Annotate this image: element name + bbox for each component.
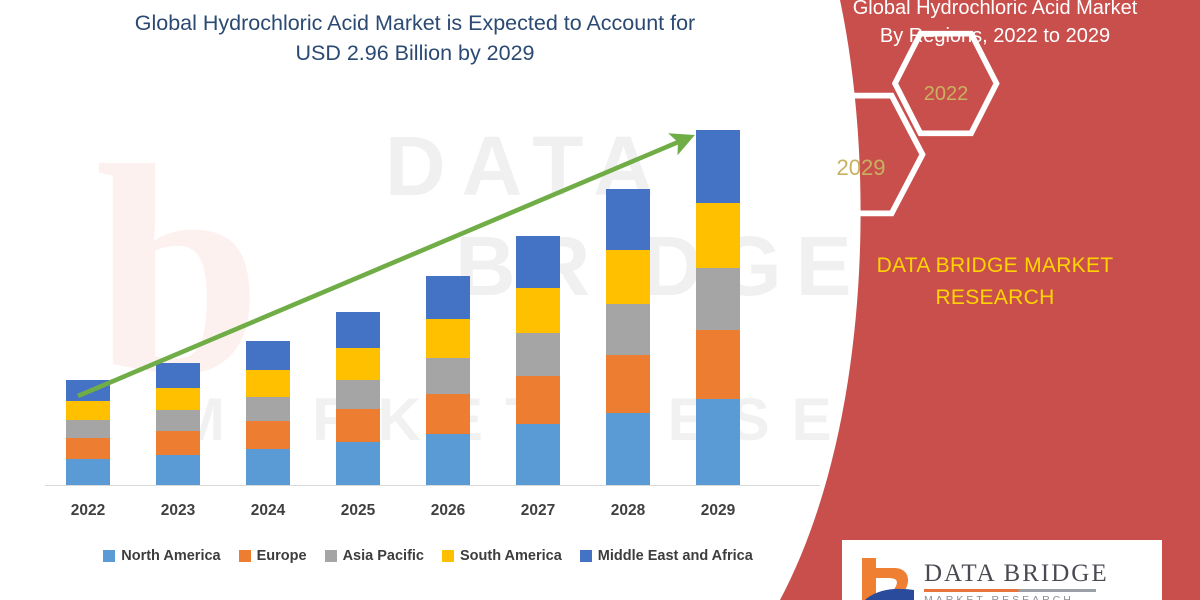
chart-legend: North AmericaEuropeAsia PacificSouth Ame…	[48, 548, 808, 564]
bar-segment-north-america[interactable]	[426, 434, 470, 485]
bar-segment-south-america[interactable]	[66, 401, 110, 420]
legend-swatch-icon	[239, 550, 251, 562]
bar-segment-north-america[interactable]	[66, 459, 110, 485]
logo-text-block: DATA BRIDGE MARKET RESEARCH	[924, 561, 1109, 600]
bar-segment-south-america[interactable]	[606, 250, 650, 304]
bar-segment-middle-east-and-africa[interactable]	[246, 341, 290, 370]
plot-area: 20222023202420252026202720282029	[0, 0, 860, 600]
legend-label: South America	[460, 548, 562, 564]
company-logo: DATA BRIDGE MARKET RESEARCH	[842, 540, 1162, 600]
bar-segment-asia-pacific[interactable]	[516, 333, 560, 376]
axis-baseline	[45, 485, 820, 487]
hexagon-2022-label: 2022	[892, 83, 1000, 106]
logo-title: DATA BRIDGE	[924, 561, 1109, 586]
legend-item-north-america[interactable]: North America	[103, 548, 220, 564]
logo-subtitle: MARKET RESEARCH	[924, 595, 1109, 600]
bar-segment-middle-east-and-africa[interactable]	[426, 276, 470, 319]
bar-2023[interactable]	[156, 363, 200, 485]
hexagon-2029-label: 2029	[796, 155, 926, 181]
legend-item-europe[interactable]: Europe	[239, 548, 307, 564]
bar-segment-asia-pacific[interactable]	[336, 380, 380, 409]
legend-item-asia-pacific[interactable]: Asia Pacific	[325, 548, 424, 564]
bar-segment-north-america[interactable]	[246, 449, 290, 485]
bar-2026[interactable]	[426, 276, 470, 485]
bar-segment-asia-pacific[interactable]	[66, 420, 110, 438]
bar-2022[interactable]	[66, 380, 110, 485]
x-axis-tick-2029: 2029	[673, 502, 763, 520]
bar-2027[interactable]	[516, 236, 560, 485]
bar-segment-middle-east-and-africa[interactable]	[156, 363, 200, 388]
bar-segment-middle-east-and-africa[interactable]	[606, 189, 650, 250]
bar-segment-south-america[interactable]	[336, 348, 380, 380]
legend-label: North America	[121, 548, 220, 564]
legend-swatch-icon	[442, 550, 454, 562]
bar-segment-north-america[interactable]	[336, 442, 380, 485]
bar-segment-europe[interactable]	[696, 330, 740, 399]
bar-segment-asia-pacific[interactable]	[606, 304, 650, 355]
x-axis-tick-2024: 2024	[223, 502, 313, 520]
bar-segment-asia-pacific[interactable]	[246, 397, 290, 422]
bar-2029[interactable]	[696, 130, 740, 485]
bar-segment-south-america[interactable]	[696, 203, 740, 268]
legend-label: Asia Pacific	[343, 548, 424, 564]
bar-segment-middle-east-and-africa[interactable]	[66, 380, 110, 401]
legend-item-middle-east-and-africa[interactable]: Middle East and Africa	[580, 548, 753, 564]
bar-segment-europe[interactable]	[246, 421, 290, 449]
brand-name-line-2: RESEARCH	[805, 282, 1185, 314]
bar-segment-asia-pacific[interactable]	[696, 268, 740, 330]
brand-name: DATA BRIDGE MARKET RESEARCH	[805, 250, 1185, 314]
bar-segment-south-america[interactable]	[246, 370, 290, 396]
bar-segment-south-america[interactable]	[426, 319, 470, 358]
bar-segment-asia-pacific[interactable]	[426, 358, 470, 394]
bar-segment-europe[interactable]	[156, 431, 200, 454]
legend-item-south-america[interactable]: South America	[442, 548, 562, 564]
legend-swatch-icon	[580, 550, 592, 562]
chart-panel: b DATA BRIDGE MARKET RESEARCH Global Hyd…	[0, 0, 860, 600]
bar-segment-asia-pacific[interactable]	[156, 410, 200, 431]
x-axis-tick-2023: 2023	[133, 502, 223, 520]
x-axis-tick-2026: 2026	[403, 502, 493, 520]
infographic-root: b DATA BRIDGE MARKET RESEARCH Global Hyd…	[0, 0, 1200, 600]
bar-segment-europe[interactable]	[426, 394, 470, 434]
x-axis-tick-2027: 2027	[493, 502, 583, 520]
legend-swatch-icon	[325, 550, 337, 562]
x-axis-tick-2022: 2022	[43, 502, 133, 520]
bar-segment-north-america[interactable]	[516, 424, 560, 485]
bar-segment-north-america[interactable]	[696, 399, 740, 485]
bar-segment-north-america[interactable]	[156, 455, 200, 485]
legend-label: Middle East and Africa	[598, 548, 753, 564]
x-axis-tick-2025: 2025	[313, 502, 403, 520]
brand-panel: Global Hydrochloric Acid Market By Regio…	[780, 0, 1200, 600]
x-axis-tick-2028: 2028	[583, 502, 673, 520]
bar-segment-europe[interactable]	[336, 409, 380, 442]
bar-2024[interactable]	[246, 341, 290, 485]
bar-segment-south-america[interactable]	[516, 288, 560, 334]
bar-segment-south-america[interactable]	[156, 388, 200, 410]
legend-label: Europe	[257, 548, 307, 564]
bar-segment-middle-east-and-africa[interactable]	[696, 130, 740, 203]
bar-segment-europe[interactable]	[66, 438, 110, 459]
bar-2025[interactable]	[336, 312, 380, 485]
bar-segment-middle-east-and-africa[interactable]	[336, 312, 380, 348]
bar-segment-middle-east-and-africa[interactable]	[516, 236, 560, 287]
bridge-logo-icon	[854, 552, 916, 600]
bar-segment-europe[interactable]	[516, 376, 560, 424]
bar-2028[interactable]	[606, 189, 650, 485]
bar-segment-north-america[interactable]	[606, 413, 650, 485]
legend-swatch-icon	[103, 550, 115, 562]
logo-divider	[924, 589, 1096, 592]
brand-name-line-1: DATA BRIDGE MARKET	[805, 250, 1185, 282]
bar-segment-europe[interactable]	[606, 355, 650, 413]
brand-heading-line-1: Global Hydrochloric Acid Market	[810, 0, 1180, 22]
